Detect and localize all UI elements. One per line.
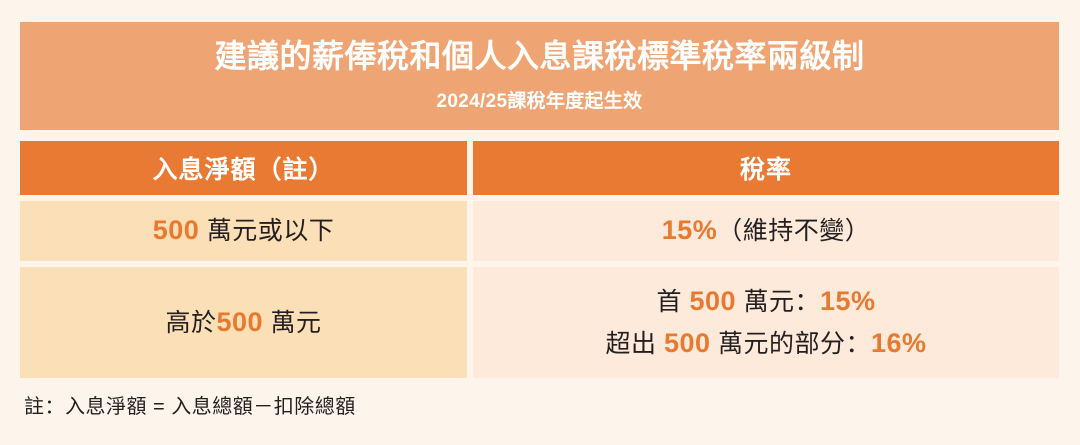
rate-tier-1-text: 15%（維持不變） [662, 210, 871, 252]
table-header-cell-rate: 稅率 [473, 141, 1059, 195]
rate-tier-2-line-2-amount: 500 [664, 328, 711, 358]
income-tier-2-suffix: 萬元 [271, 309, 322, 337]
rate-tier-2-line-2-middle: 萬元的部分： [711, 330, 871, 358]
rate-tier-1-value: 15% [662, 215, 718, 245]
tax-rate-table: 入息淨額（註） 稅率 500 萬元或以下 15%（維持不變） 高於500 萬元 … [20, 141, 1059, 378]
footnote: 註：入息淨額 = 入息總額－扣除總額 [24, 390, 356, 419]
table-cell-rate-tier-2: 首 500 萬元：15% 超出 500 萬元的部分：16% [473, 267, 1059, 378]
income-tier-2-amount: 500 [216, 307, 263, 337]
table-row: 500 萬元或以下 15%（維持不變） [20, 201, 1059, 261]
rate-tier-2-line-1-prefix: 首 [656, 288, 689, 316]
title-banner: 建議的薪俸稅和個人入息課稅標準稅率兩級制 2024/25課稅年度起生效 [20, 22, 1059, 130]
rate-tier-2-line-2-value: 16% [871, 328, 927, 358]
table-header-row: 入息淨額（註） 稅率 [20, 141, 1059, 195]
table-row: 高於500 萬元 首 500 萬元：15% 超出 500 萬元的部分：16% [20, 267, 1059, 378]
income-tier-1-suffix: 萬元或以下 [207, 217, 335, 245]
income-tier-2-text: 高於500 萬元 [165, 302, 321, 344]
income-tier-2-prefix: 高於 [165, 309, 216, 337]
table-header-label-income: 入息淨額（註） [152, 150, 334, 186]
rate-tier-2-line-1: 首 500 萬元：15% [656, 281, 875, 323]
income-tier-1-text: 500 萬元或以下 [153, 210, 335, 252]
rate-tier-2-line-2-prefix: 超出 [605, 330, 663, 358]
rate-tier-1-suffix: （維持不變） [717, 217, 870, 245]
income-tier-1-amount: 500 [153, 215, 200, 245]
rate-tier-2-line-1-amount: 500 [689, 286, 736, 316]
page-title: 建議的薪俸稅和個人入息課稅標準稅率兩級制 [214, 39, 864, 74]
table-header-cell-income: 入息淨額（註） [20, 141, 467, 195]
rate-tier-2-line-2: 超出 500 萬元的部分：16% [605, 323, 926, 365]
page-subtitle: 2024/25課稅年度起生效 [437, 86, 643, 113]
table-header-label-rate: 稅率 [740, 150, 792, 186]
rate-tier-2-line-1-middle: 萬元： [736, 288, 820, 316]
rate-tier-2-line-1-value: 15% [820, 286, 876, 316]
table-cell-income-tier-2: 高於500 萬元 [20, 267, 467, 378]
infographic-container: 建議的薪俸稅和個人入息課稅標準稅率兩級制 2024/25課稅年度起生效 入息淨額… [0, 0, 1080, 445]
table-cell-income-tier-1: 500 萬元或以下 [20, 201, 467, 261]
table-cell-rate-tier-1: 15%（維持不變） [473, 201, 1059, 261]
